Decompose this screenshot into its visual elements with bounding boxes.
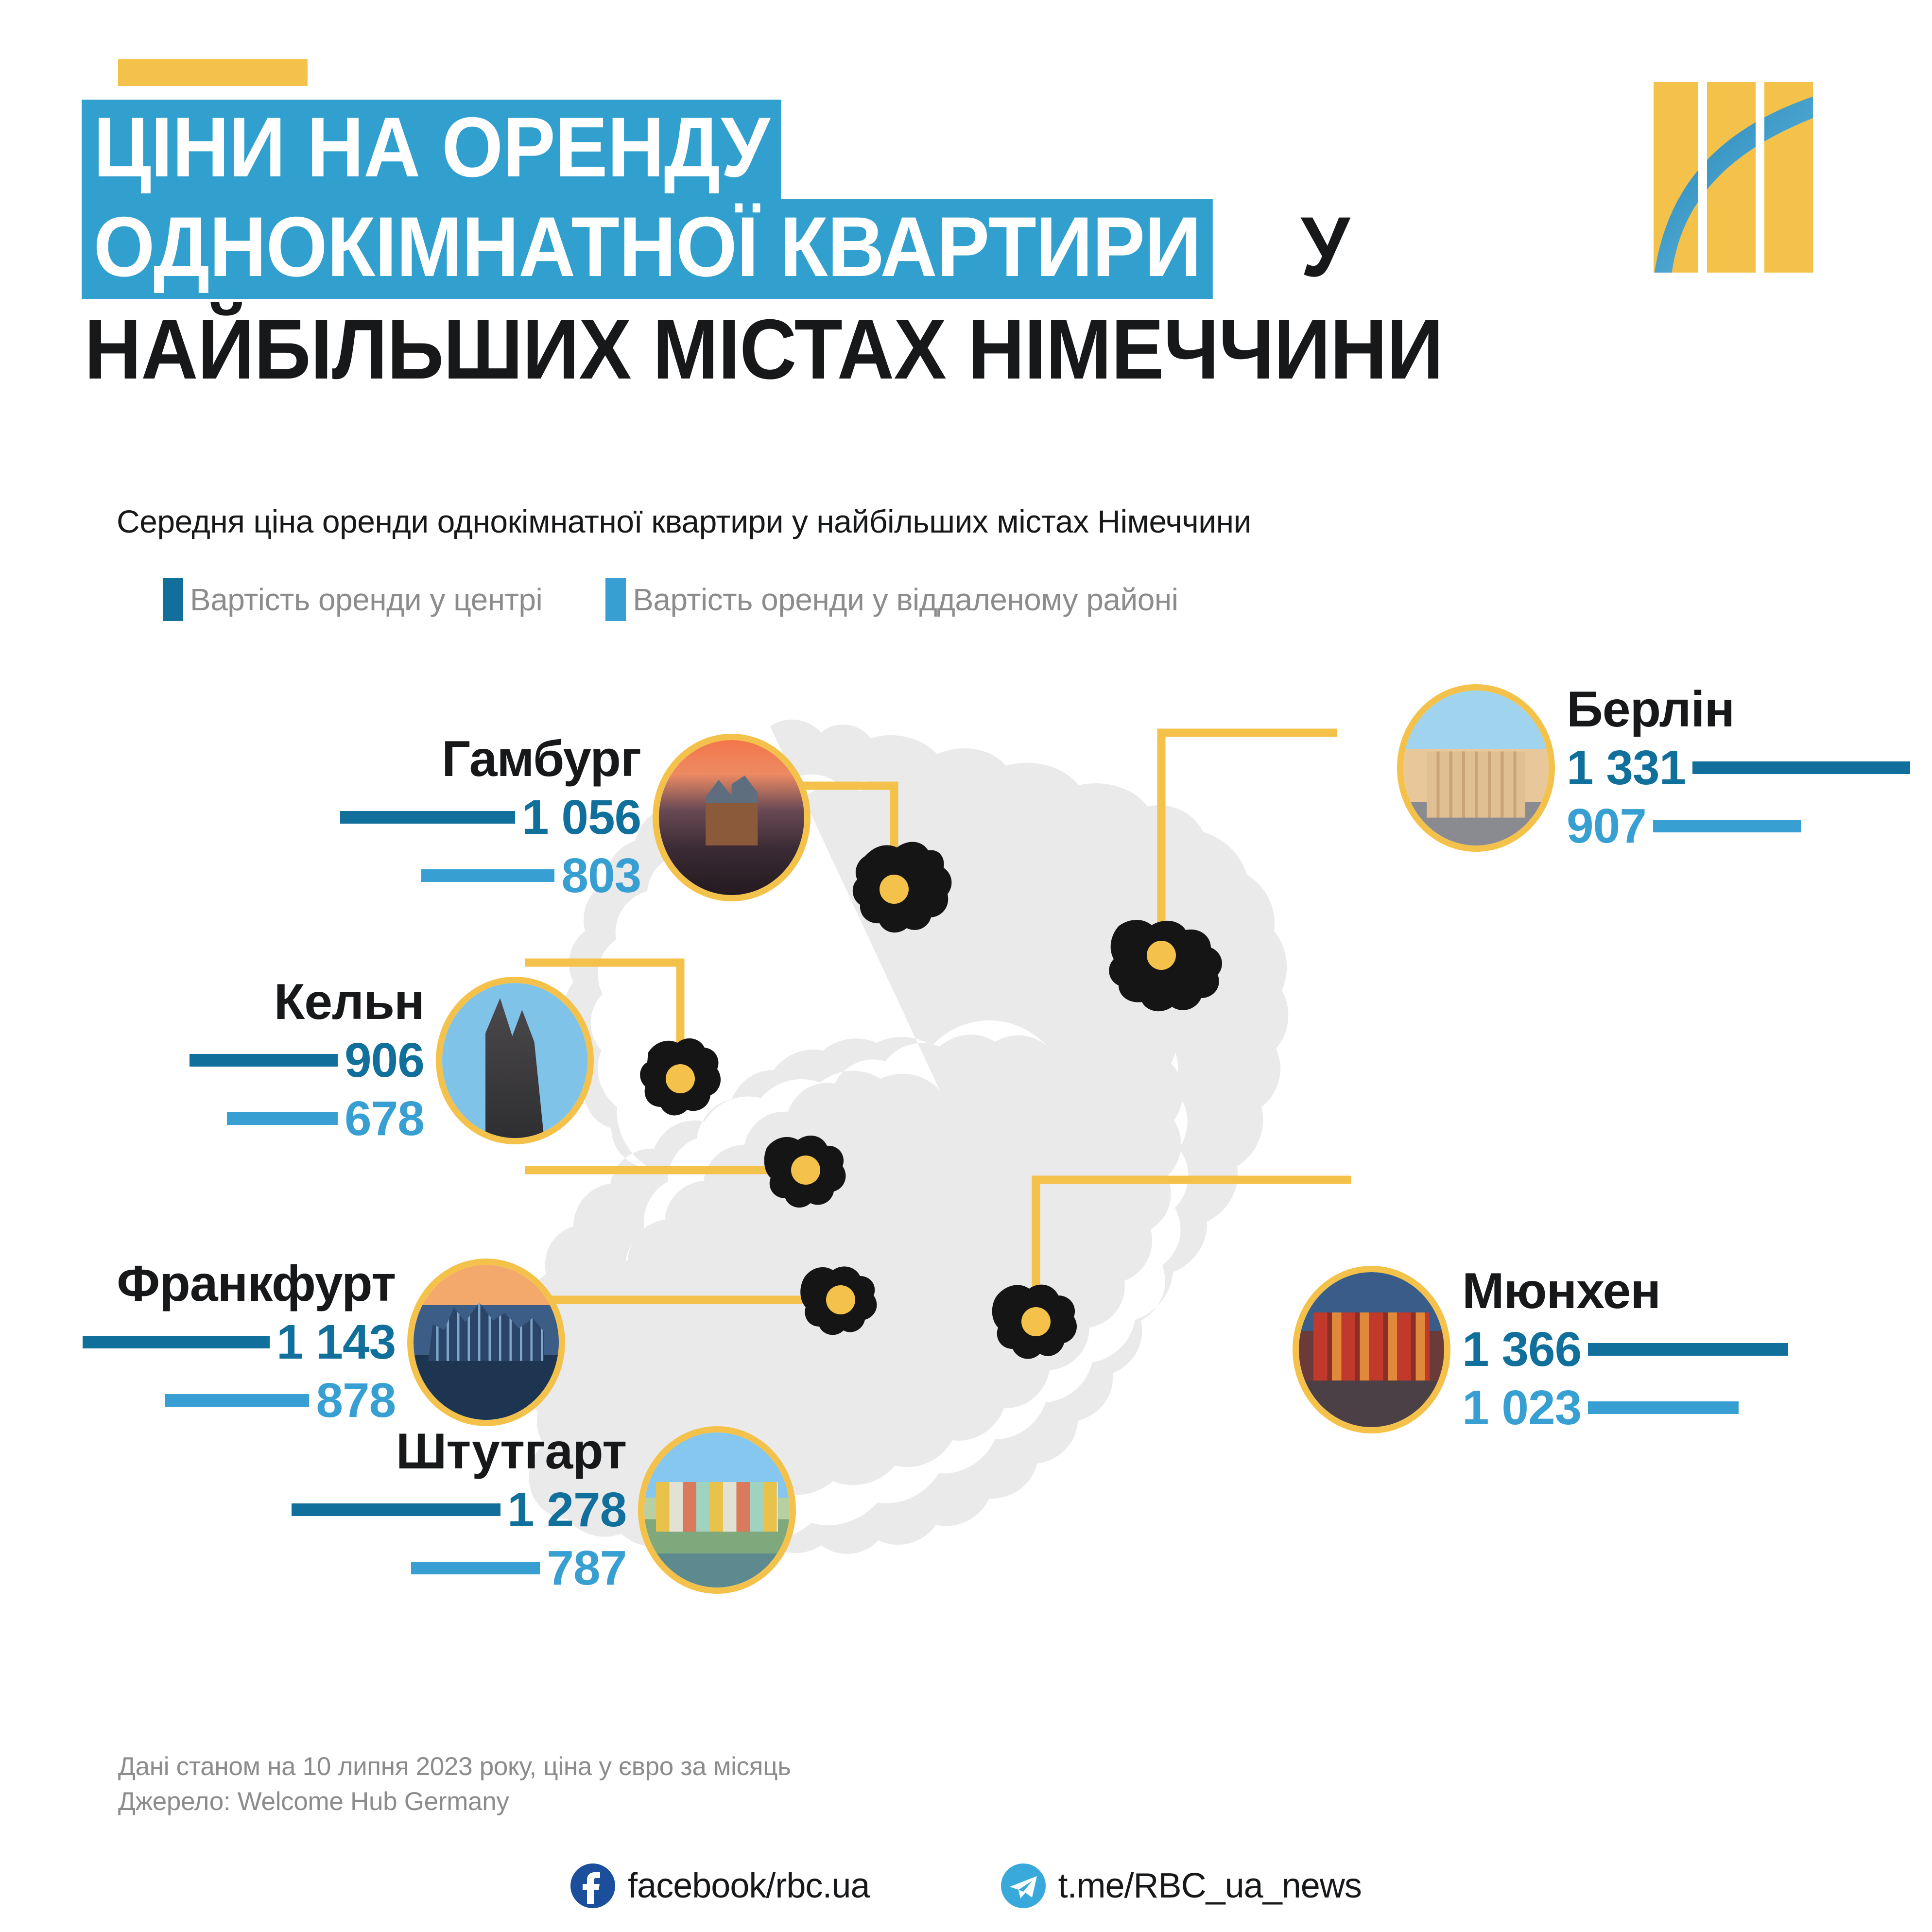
pin-frankfurt — [791, 1156, 820, 1185]
bar-outer-hamburg — [421, 869, 554, 882]
accent-bar — [118, 59, 308, 86]
value-row-outer-stuttgart: 787 — [411, 1539, 626, 1597]
bar-outer-berlin — [1653, 820, 1801, 832]
value-center-munchen: 1 366 — [1462, 1325, 1581, 1374]
title-text-2b: У — [1298, 199, 1352, 299]
bar-outer-munchen — [1588, 1401, 1739, 1414]
title-text-2: ОДНОКІМНАТНОЇ КВАРТИРИ — [82, 199, 1213, 299]
value-row-outer-frankfurt: 878 — [165, 1371, 396, 1430]
facebook-label: facebook/rbc.ua — [628, 1866, 869, 1906]
title-line-3: НАЙБІЛЬШИХ МІСТАХ НІМЕЧЧИНИ — [82, 302, 1612, 401]
value-row-outer-munchen: 1 023 — [1462, 1379, 1739, 1437]
value-center-frankfurt: 1 143 — [276, 1318, 396, 1366]
value-row-center-munchen: 1 366 — [1462, 1320, 1788, 1379]
value-outer-stuttgart: 787 — [547, 1544, 626, 1592]
hamburg-speicherstadt-photo — [653, 734, 811, 901]
value-row-center-koln: 906 — [190, 1031, 424, 1089]
legend-item-center: Вартість оренди у центрі — [163, 578, 542, 621]
city-name-koln: Кельн — [274, 977, 424, 1027]
city-card-koln[interactable]: Кельн 906 678 — [190, 977, 594, 1148]
legend-item-outer: Вартість оренди у віддаленому районі — [605, 578, 1178, 621]
pin-stuttgart — [826, 1285, 855, 1314]
value-row-center-hamburg: 1 056 — [340, 788, 641, 846]
pin-hamburg — [880, 875, 909, 904]
legend-label-center: Вартість оренди у центрі — [190, 582, 542, 618]
pin-berlin — [1147, 941, 1176, 970]
city-card-frankfurt[interactable]: Франкфурт 1 143 878 — [83, 1259, 565, 1430]
social-telegram[interactable]: t.me/RBC_ua_news — [1001, 1863, 1362, 1908]
title-text-1: ЦІНИ НА ОРЕНДУ — [82, 100, 781, 199]
bar-outer-koln — [227, 1112, 338, 1125]
legend-swatch-center — [163, 578, 183, 621]
legend-swatch-outer — [605, 578, 626, 621]
frankfurt-skyline-photo — [407, 1259, 565, 1426]
bar-center-frankfurt — [83, 1336, 270, 1348]
value-center-berlin: 1 331 — [1567, 743, 1686, 792]
value-row-center-berlin: 1 331 — [1567, 739, 1910, 797]
value-row-outer-koln: 678 — [227, 1089, 424, 1148]
value-row-center-frankfurt: 1 143 — [83, 1313, 396, 1371]
page-title: ЦІНИ НА ОРЕНДУ ОДНОКІМНАТНОЇ КВАРТИРИУ Н… — [82, 100, 1612, 401]
telegram-icon — [1001, 1863, 1046, 1908]
city-name-hamburg: Гамбург — [442, 734, 641, 784]
munich-marienplatz-photo — [1293, 1266, 1450, 1433]
bar-center-hamburg — [340, 811, 515, 824]
title-line-2: ОДНОКІМНАТНОЇ КВАРТИРИУ — [82, 199, 1612, 299]
city-card-munchen[interactable]: Мюнхен 1 366 1 023 — [1293, 1266, 1788, 1437]
bar-outer-stuttgart — [411, 1562, 540, 1574]
bar-center-munchen — [1588, 1343, 1788, 1356]
value-center-hamburg: 1 056 — [522, 793, 641, 842]
city-card-berlin[interactable]: Берлін 1 331 907 — [1397, 684, 1910, 855]
value-row-outer-berlin: 907 — [1567, 797, 1801, 855]
cologne-cathedral-photo — [436, 977, 594, 1144]
pin-koln — [666, 1064, 695, 1093]
social-facebook[interactable]: facebook/rbc.ua — [570, 1863, 869, 1908]
value-outer-hamburg: 803 — [561, 851, 641, 900]
value-outer-koln: 678 — [345, 1094, 424, 1143]
stuttgart-old-town-photo — [638, 1426, 796, 1594]
city-card-hamburg[interactable]: Гамбург 1 056 803 — [340, 734, 811, 905]
value-outer-munchen: 1 023 — [1462, 1383, 1581, 1432]
pin-munchen — [1021, 1307, 1051, 1336]
city-card-stuttgart[interactable]: Штутгарт 1 278 787 — [292, 1426, 796, 1597]
bar-center-berlin — [1692, 761, 1910, 774]
city-name-stuttgart: Штутгарт — [396, 1426, 626, 1477]
bar-center-koln — [190, 1054, 338, 1067]
footnote-source: Джерело: Welcome Hub Germany — [118, 1784, 791, 1819]
value-outer-berlin: 907 — [1567, 802, 1646, 850]
city-name-munchen: Мюнхен — [1462, 1266, 1660, 1316]
facebook-icon — [570, 1863, 615, 1908]
value-outer-frankfurt: 878 — [316, 1376, 396, 1425]
bar-outer-frankfurt — [165, 1394, 309, 1407]
value-center-koln: 906 — [345, 1036, 424, 1085]
city-name-frankfurt: Франкфурт — [117, 1259, 396, 1309]
value-row-outer-hamburg: 803 — [421, 846, 641, 905]
bar-center-stuttgart — [292, 1503, 500, 1516]
telegram-label: t.me/RBC_ua_news — [1058, 1866, 1362, 1906]
footnote: Дані станом на 10 липня 2023 року, ціна … — [118, 1749, 791, 1819]
city-name-berlin: Берлін — [1567, 684, 1734, 735]
legend: Вартість оренди у центрі Вартість оренди… — [163, 578, 1178, 621]
legend-label-outer: Вартість оренди у віддаленому районі — [633, 582, 1178, 618]
title-text-3: НАЙБІЛЬШИХ МІСТАХ НІМЕЧЧИНИ — [82, 302, 1446, 401]
footnote-date: Дані станом на 10 липня 2023 року, ціна … — [118, 1749, 791, 1784]
value-center-stuttgart: 1 278 — [507, 1485, 626, 1534]
subtitle: Середня ціна оренди однокімнатної кварти… — [117, 503, 1817, 540]
value-row-center-stuttgart: 1 278 — [292, 1481, 626, 1539]
title-line-1: ЦІНИ НА ОРЕНДУ — [82, 100, 1612, 199]
social-links: facebook/rbc.ua t.me/RBC_ua_news — [0, 1863, 1932, 1908]
rbc-logo — [1650, 75, 1842, 279]
berlin-brandenburg-gate-photo — [1397, 684, 1555, 852]
